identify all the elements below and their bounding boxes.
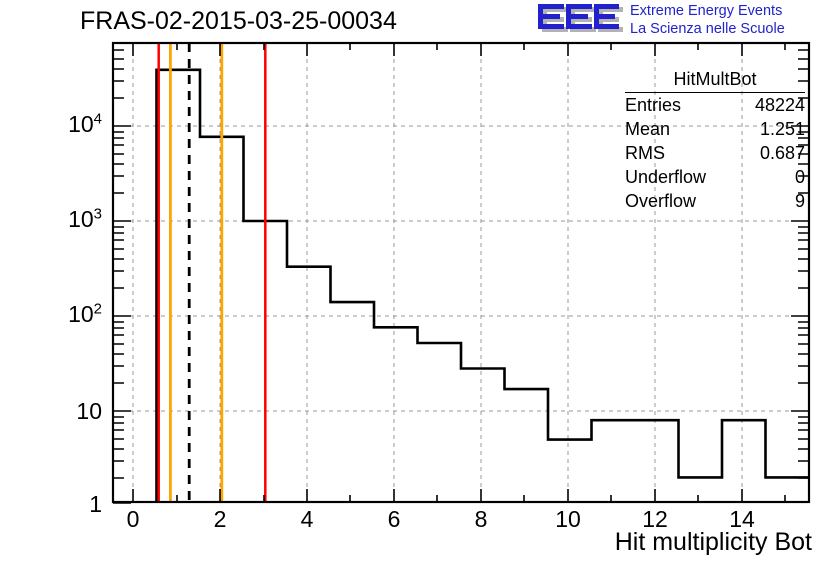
stats-key-rms: RMS	[625, 142, 665, 165]
y-tick-label-10000: 104	[30, 113, 102, 136]
stats-row-mean: Mean 1.251	[625, 117, 805, 141]
x-tick-label-4: 4	[287, 508, 327, 531]
stats-box: HitMultBot Entries 48224 Mean 1.251 RMS …	[625, 68, 805, 213]
stats-value-rms: 0.687	[760, 142, 805, 165]
x-tick-label-8: 8	[461, 508, 501, 531]
stats-key-entries: Entries	[625, 94, 681, 117]
x-tick-label-10: 10	[548, 508, 588, 531]
x-tick-label-2: 2	[200, 508, 240, 531]
y-tick-label-1000: 103	[30, 208, 102, 231]
marker-lines	[159, 43, 266, 502]
stats-key-underflow: Underflow	[625, 166, 706, 189]
stats-row-rms: RMS 0.687	[625, 141, 805, 165]
x-axis-title: Hit multiplicity Bot	[615, 528, 812, 556]
stats-title: HitMultBot	[625, 68, 805, 93]
root-canvas: FRAS-02-2015-03-25-00034 Extreme Energy …	[0, 0, 836, 572]
y-tick-label-1: 1	[30, 493, 102, 516]
y-tick-label-10: 10	[30, 400, 102, 423]
stats-value-mean: 1.251	[760, 118, 805, 141]
x-tick-label-6: 6	[374, 508, 414, 531]
stats-row-entries: Entries 48224	[625, 93, 805, 117]
stats-row-underflow: Underflow 0	[625, 165, 805, 189]
y-tick-label-100: 102	[30, 303, 102, 326]
stats-key-overflow: Overflow	[625, 190, 696, 213]
stats-value-underflow: 0	[795, 166, 805, 189]
stats-key-mean: Mean	[625, 118, 670, 141]
x-tick-label-0: 0	[113, 508, 153, 531]
stats-value-entries: 48224	[755, 94, 805, 117]
stats-row-overflow: Overflow 9	[625, 189, 805, 213]
stats-value-overflow: 9	[795, 190, 805, 213]
